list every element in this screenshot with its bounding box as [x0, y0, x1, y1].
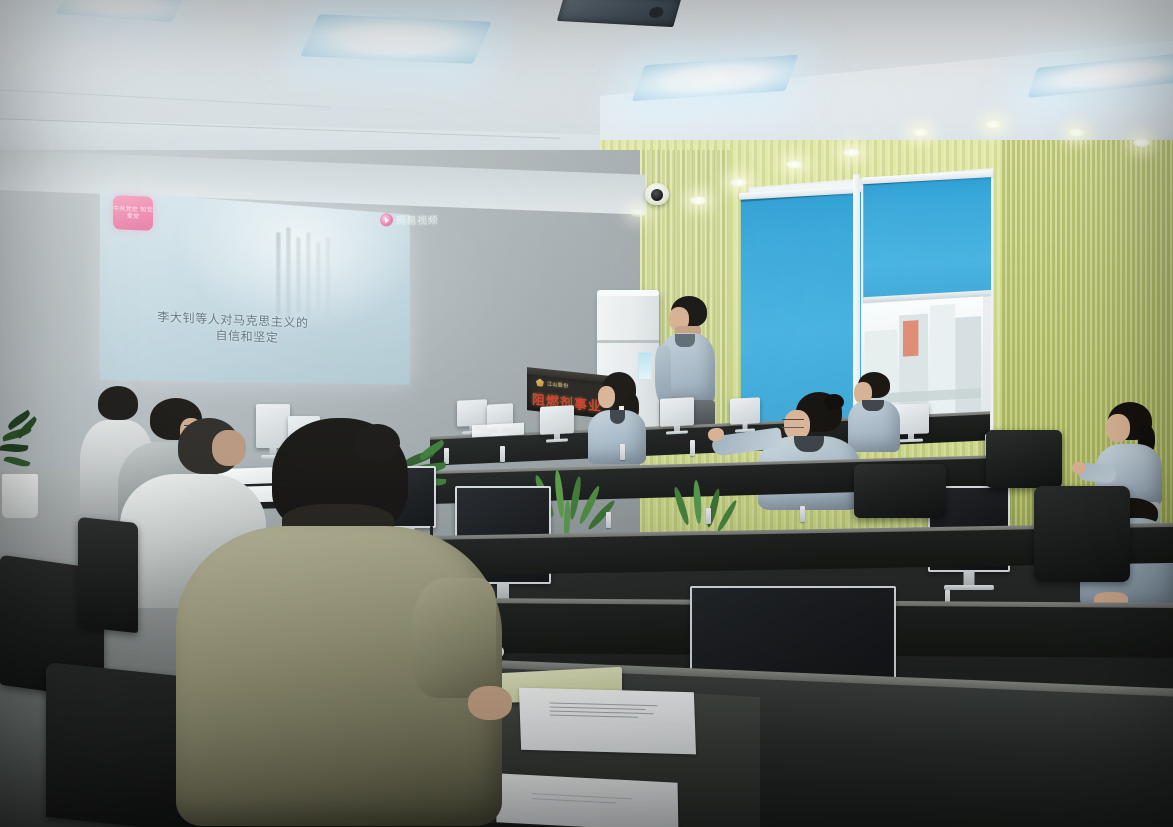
chair[interactable] [986, 430, 1062, 488]
presenter-arm-left [655, 346, 671, 402]
desk-divider-stub [800, 506, 805, 522]
hand-right [468, 686, 512, 720]
chair[interactable] [78, 517, 138, 633]
camera-lens-icon [651, 189, 663, 201]
netease-watermark: 网易视频 [380, 211, 438, 227]
recessed-downlight [985, 120, 1002, 129]
play-circle-icon [380, 213, 393, 226]
recessed-downlight [1133, 138, 1150, 147]
podium-logo: 江山股份 [536, 378, 569, 389]
recessed-downlight [912, 128, 929, 137]
recessed-downlight [843, 148, 860, 157]
desk-divider-stub [706, 508, 711, 524]
collar [862, 400, 884, 411]
recessed-downlight [690, 196, 707, 205]
monitor-back [540, 405, 574, 435]
window-blind-left[interactable] [741, 190, 861, 424]
document-sheet[interactable] [496, 773, 679, 827]
watermark-label: 网易视频 [396, 211, 438, 227]
hand [1072, 462, 1086, 474]
desk-divider-stub [690, 440, 695, 456]
desk-divider-stub [606, 512, 611, 528]
attendee-front-olive [176, 418, 506, 827]
ac-panel-seam [597, 340, 659, 343]
desk-divider-stub [620, 444, 625, 460]
chair[interactable] [854, 464, 946, 518]
monitor-back [660, 397, 694, 427]
recessed-downlight [1068, 128, 1085, 137]
face [598, 386, 615, 408]
hair-highlight [354, 424, 400, 462]
slide-logo-badge-text: 中共党史 知党爱党 [113, 205, 153, 220]
slide-logo-badge: 中共党史 知党爱党 [113, 195, 153, 230]
document-sheet[interactable] [519, 688, 696, 755]
chair[interactable] [1034, 486, 1130, 582]
plant-left-potted [0, 412, 52, 528]
glasses-icon [782, 419, 804, 428]
company-logo-icon [536, 378, 544, 387]
meeting-room-photo: 中共党史 知党爱党 网易视频 李大钊等人对马克思主义的 自信和坚定 江山股份 阻… [0, 0, 1173, 827]
attendee-woman-ponytail [588, 372, 648, 464]
face [1106, 414, 1130, 442]
recessed-downlight [630, 208, 647, 217]
company-logo-label: 江山股份 [547, 380, 569, 389]
ac-top-cap [597, 290, 659, 296]
presenter-collar [675, 334, 695, 347]
ceiling-panel-light [300, 14, 491, 64]
window-blind-right[interactable] [863, 174, 991, 302]
hair-top [824, 394, 844, 410]
jacket-arm-right [412, 578, 496, 698]
